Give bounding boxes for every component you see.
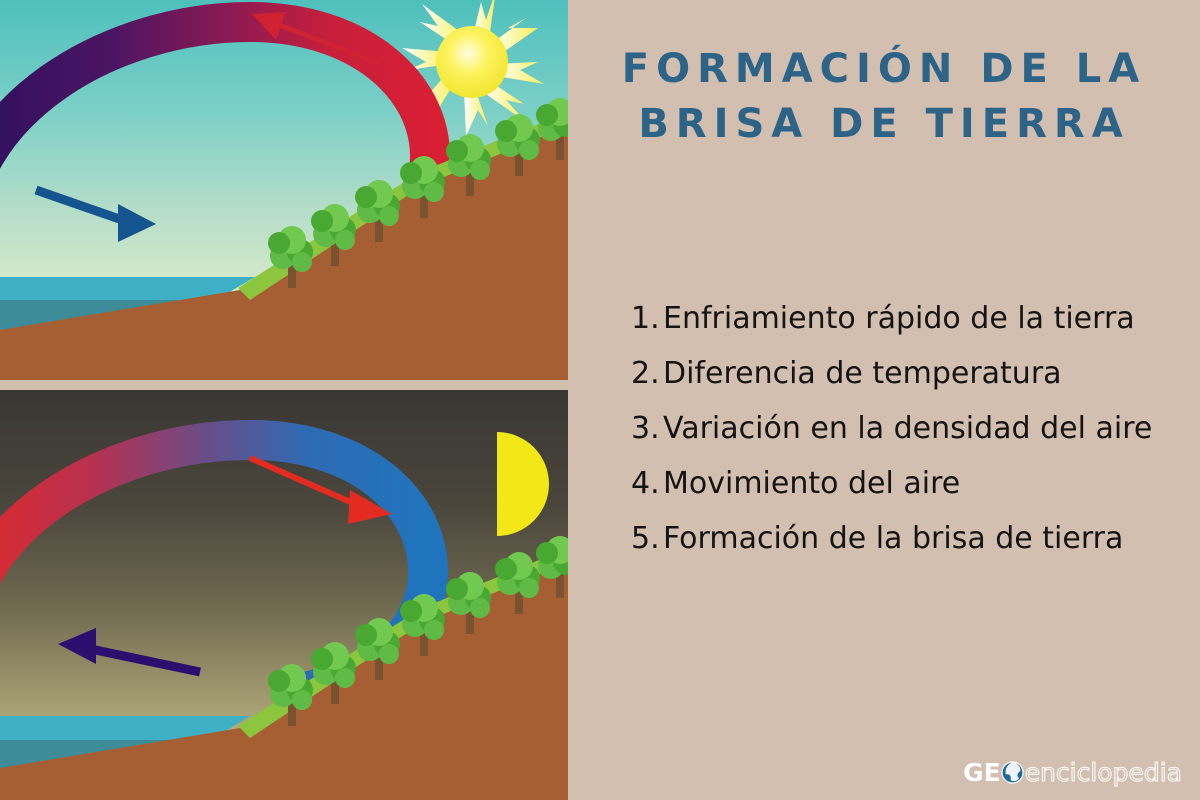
list-item-number: 5.: [631, 512, 663, 565]
steps-list: 1. Enfriamiento rápido de la tierra 2. D…: [631, 292, 1191, 567]
infographic-root: FORMACIÓN DE LA BRISA DE TIERRA 1. Enfri…: [0, 0, 1200, 800]
illustration-column: [0, 0, 568, 800]
globe-icon: [1001, 761, 1024, 784]
text-column: FORMACIÓN DE LA BRISA DE TIERRA 1. Enfri…: [568, 0, 1200, 800]
list-item-label: Diferencia de temperatura: [663, 347, 1191, 400]
list-item-number: 3.: [631, 402, 663, 455]
night-lower-arrow: [58, 628, 200, 672]
list-item: 1. Enfriamiento rápido de la tierra: [631, 292, 1191, 345]
logo-wordmark: enciclopedia: [1025, 759, 1182, 786]
list-item-label: Movimiento del aire: [663, 457, 1191, 510]
night-panel: [0, 390, 568, 800]
list-item-label: Formación de la brisa de tierra: [663, 512, 1191, 565]
brand-logo: GE enciclopedia: [963, 758, 1182, 786]
sun-icon: [436, 26, 508, 98]
list-item-label: Variación en la densidad del aire: [663, 402, 1191, 455]
list-item: 2. Diferencia de temperatura: [631, 347, 1191, 400]
page-title: FORMACIÓN DE LA BRISA DE TIERRA: [568, 42, 1200, 152]
list-item-label: Enfriamiento rápido de la tierra: [663, 292, 1191, 345]
day-panel: [0, 0, 568, 380]
list-item: 4. Movimiento del aire: [631, 457, 1191, 510]
logo-mark: GE: [963, 759, 1001, 786]
panel-divider: [0, 380, 568, 390]
night-scene-graphics: [0, 390, 568, 800]
day-scene-graphics: [0, 0, 568, 380]
list-item: 5. Formación de la brisa de tierra: [631, 512, 1191, 565]
list-item-number: 1.: [631, 292, 663, 345]
list-item-number: 2.: [631, 347, 663, 400]
list-item-number: 4.: [631, 457, 663, 510]
list-item: 3. Variación en la densidad del aire: [631, 402, 1191, 455]
moon-icon: [497, 432, 549, 536]
day-lower-arrow: [36, 190, 156, 242]
